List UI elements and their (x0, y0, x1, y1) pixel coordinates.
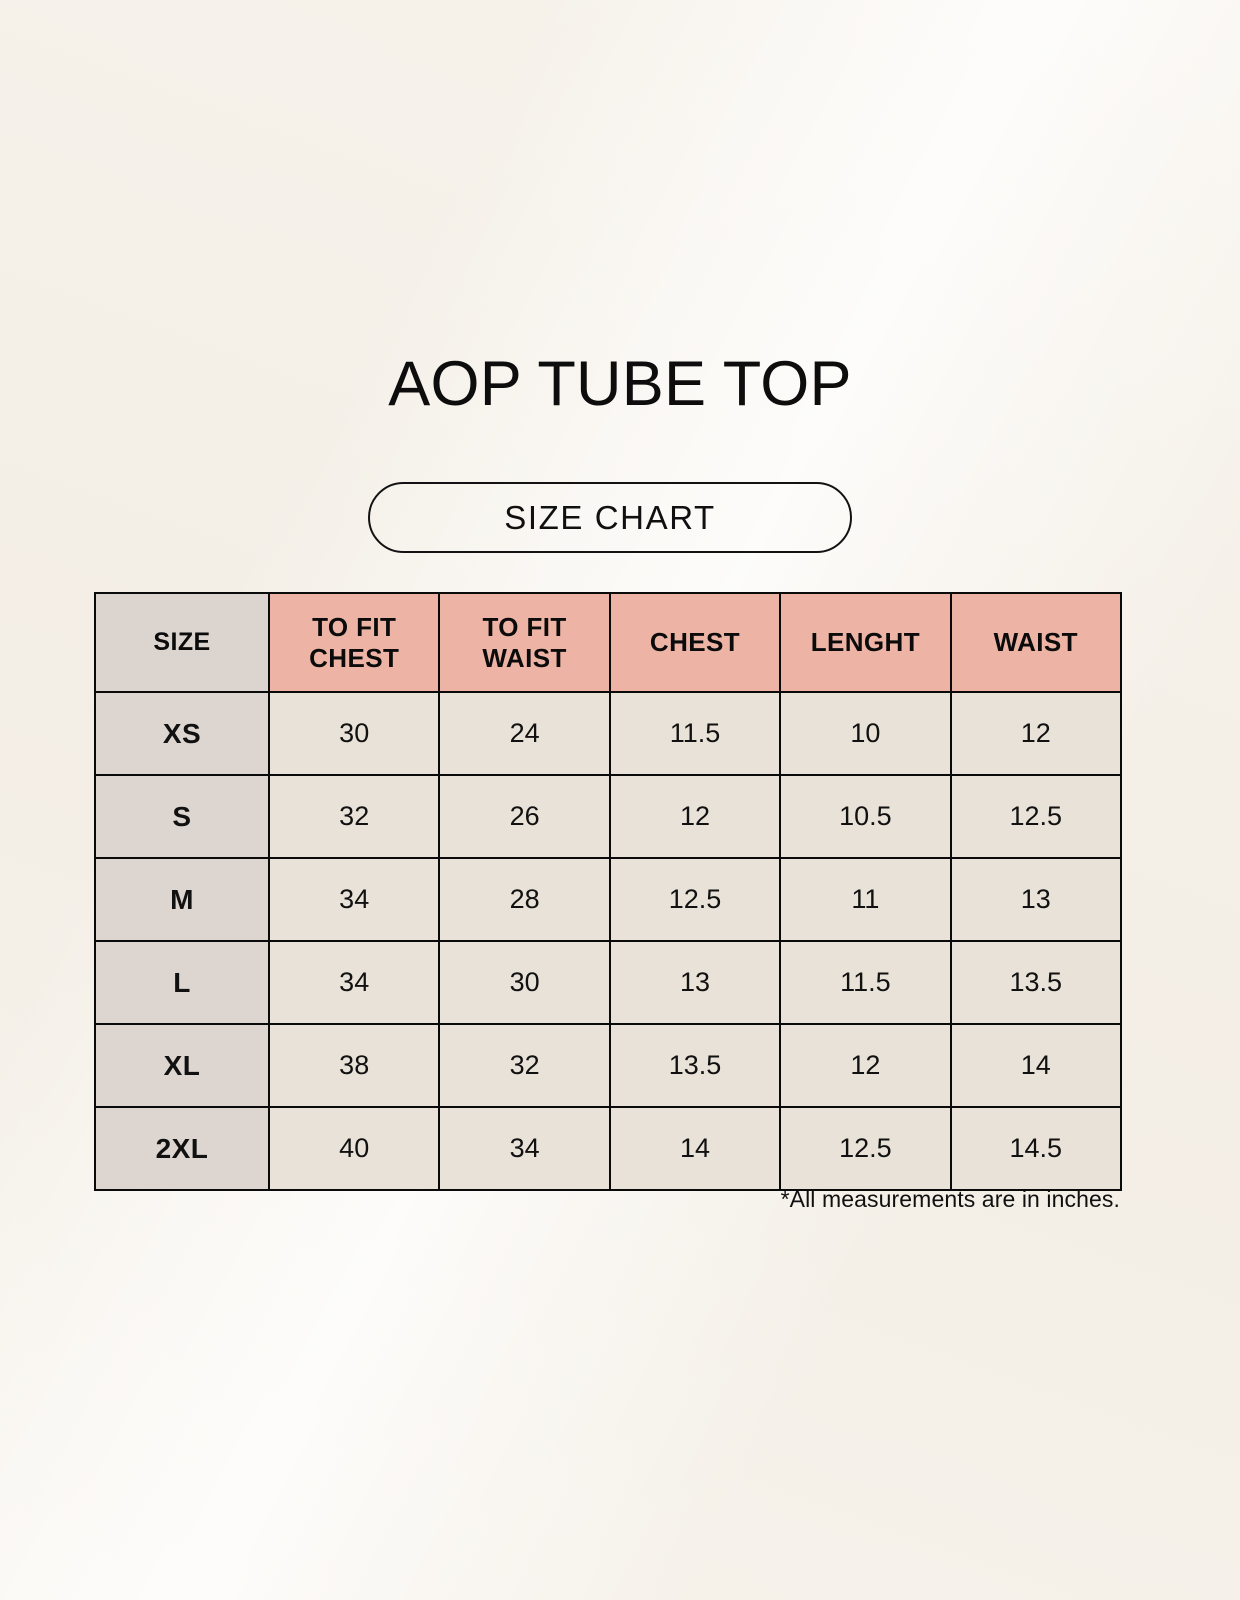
size-label-cell: S (95, 775, 269, 858)
table-header-row: SIZE TO FITCHEST TO FITWAIST CHEST LENGH… (95, 593, 1121, 692)
column-header-line: CHEST (309, 643, 399, 673)
table-row: 2XL40341412.514.5 (95, 1107, 1121, 1190)
column-header-line: WAIST (994, 627, 1078, 657)
measurement-cell: 28 (439, 858, 609, 941)
measurement-cell: 12 (951, 692, 1121, 775)
measurement-cell: 14.5 (951, 1107, 1121, 1190)
measurement-cell: 10.5 (780, 775, 950, 858)
column-header-line: TO FIT (312, 612, 396, 642)
size-label-cell: L (95, 941, 269, 1024)
table-row: XL383213.51214 (95, 1024, 1121, 1107)
measurement-cell: 32 (439, 1024, 609, 1107)
measurement-cell: 40 (269, 1107, 439, 1190)
measurement-cell: 14 (610, 1107, 780, 1190)
column-header-line: SIZE (153, 628, 210, 656)
page-title: AOP TUBE TOP (0, 352, 1240, 418)
column-header-waist: WAIST (951, 593, 1121, 692)
measurement-cell: 13 (951, 858, 1121, 941)
measurement-cell: 11 (780, 858, 950, 941)
column-header-line: WAIST (482, 643, 566, 673)
table-row: XS302411.51012 (95, 692, 1121, 775)
measurement-cell: 13.5 (610, 1024, 780, 1107)
measurement-cell: 11.5 (610, 692, 780, 775)
measurement-cell: 14 (951, 1024, 1121, 1107)
measurement-cell: 12.5 (610, 858, 780, 941)
measurement-cell: 24 (439, 692, 609, 775)
measurement-cell: 12 (610, 775, 780, 858)
size-label-cell: XL (95, 1024, 269, 1107)
column-header-line: LENGHT (811, 627, 920, 657)
measurement-cell: 30 (439, 941, 609, 1024)
measurement-cell: 32 (269, 775, 439, 858)
measurement-cell: 38 (269, 1024, 439, 1107)
measurement-cell: 12.5 (951, 775, 1121, 858)
column-header-lenght: LENGHT (780, 593, 950, 692)
table-row: L34301311.513.5 (95, 941, 1121, 1024)
measurement-cell: 12.5 (780, 1107, 950, 1190)
table-row: M342812.51113 (95, 858, 1121, 941)
measurement-cell: 13 (610, 941, 780, 1024)
size-label-cell: M (95, 858, 269, 941)
measurement-cell: 30 (269, 692, 439, 775)
measurement-cell: 10 (780, 692, 950, 775)
table-row: S32261210.512.5 (95, 775, 1121, 858)
column-header-to-fit-chest: TO FITCHEST (269, 593, 439, 692)
column-header-line: TO FIT (482, 612, 566, 642)
measurement-cell: 11.5 (780, 941, 950, 1024)
table-body: XS302411.51012S32261210.512.5M342812.511… (95, 692, 1121, 1190)
measurement-cell: 12 (780, 1024, 950, 1107)
size-chart-sheet: AOP TUBE TOP SIZE CHART SIZE TO FITCHEST… (0, 0, 1240, 1600)
size-chart-badge: SIZE CHART (368, 482, 852, 553)
measurement-cell: 26 (439, 775, 609, 858)
measurement-cell: 34 (269, 941, 439, 1024)
column-header-to-fit-waist: TO FITWAIST (439, 593, 609, 692)
column-header-size: SIZE (95, 593, 269, 692)
size-label-cell: 2XL (95, 1107, 269, 1190)
size-label-cell: XS (95, 692, 269, 775)
size-chart-badge-label: SIZE CHART (504, 499, 716, 537)
size-table-container: SIZE TO FITCHEST TO FITWAIST CHEST LENGH… (94, 592, 1120, 1191)
column-header-chest: CHEST (610, 593, 780, 692)
column-header-line: CHEST (650, 627, 740, 657)
size-table: SIZE TO FITCHEST TO FITWAIST CHEST LENGH… (94, 592, 1122, 1191)
measurements-footnote: *All measurements are in inches. (94, 1186, 1120, 1213)
measurement-cell: 13.5 (951, 941, 1121, 1024)
measurement-cell: 34 (269, 858, 439, 941)
measurement-cell: 34 (439, 1107, 609, 1190)
